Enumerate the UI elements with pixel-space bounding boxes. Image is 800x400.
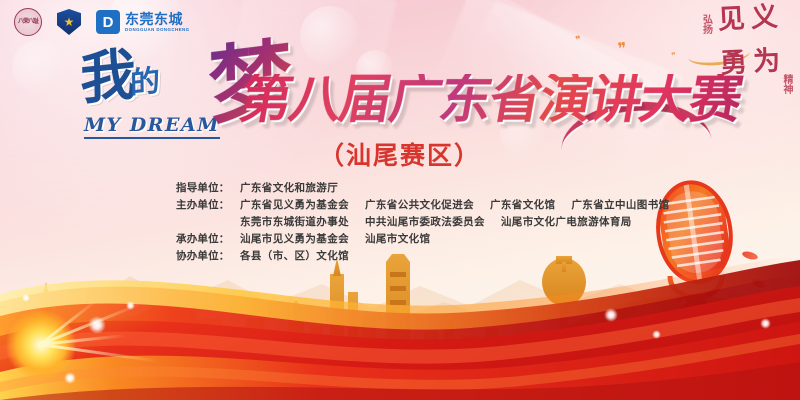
police-emblem-logo: ★ [56, 8, 82, 36]
credit-item: 广东省文化馆 [490, 197, 555, 214]
credit-item: 广东省见义勇为基金会 [240, 197, 349, 214]
credit-label: 承办单位： [176, 231, 240, 248]
bird-1-icon: ❞ [575, 35, 583, 46]
dongguan-mark-icon: D [96, 10, 120, 34]
dongguan-dongcheng-logo: D 东莞东城 DONGGUAN DONGCHENG [96, 10, 189, 34]
credit-row: 主办单位：广东省见义勇为基金会广东省公共文化促进会广东省文化馆广东省立中山图书馆 [176, 197, 696, 214]
credit-item: 各县（市、区）文化馆 [240, 248, 349, 265]
credit-row: 承办单位：汕尾市见义勇为基金会汕尾市文化馆 [176, 231, 696, 248]
dongguan-name-cn: 东莞东城 [125, 12, 189, 26]
credit-label: 指导单位： [176, 180, 240, 197]
credit-label: 协办单位： [176, 248, 240, 265]
police-star-icon: ★ [64, 16, 75, 28]
credit-item: 东莞市东城街道办事处 [240, 214, 349, 231]
credit-item: 广东省立中山图书馆 [571, 197, 669, 214]
event-poster: 八荣八耻 ★ D 东莞东城 DONGGUAN DONGCHENG ❞ ❞ ❞ 弘… [0, 0, 800, 400]
sparkle-3 [126, 301, 135, 310]
credit-items: 各县（市、区）文化馆 [240, 248, 349, 265]
sparkle-1 [88, 316, 106, 334]
credit-item: 中共汕尾市委政法委员会 [365, 214, 485, 231]
credit-row: 协办单位：各县（市、区）文化馆 [176, 248, 696, 265]
sparkle-2 [64, 372, 76, 384]
credit-item: 汕尾市见义勇为基金会 [240, 231, 349, 248]
credit-item: 广东省公共文化促进会 [365, 197, 474, 214]
dongguan-name-en: DONGGUAN DONGCHENG [125, 28, 189, 32]
slogan-char-1: 见 [714, 6, 749, 52]
sponsor-logo-row: 八荣八耻 ★ D 东莞东城 DONGGUAN DONGCHENG [14, 8, 189, 36]
credit-items: 汕尾市见义勇为基金会汕尾市文化馆 [240, 231, 430, 248]
credit-item: 汕尾市文化馆 [365, 231, 430, 248]
credit-label: 主办单位： [176, 197, 240, 214]
sparkle-4 [22, 294, 30, 302]
credit-item: 汕尾市文化广电旅游体育局 [501, 214, 632, 231]
organizer-credits: 指导单位：广东省文化和旅游厅主办单位：广东省见义勇为基金会广东省公共文化促进会广… [176, 180, 696, 265]
my-dream-char-wo: 我 [80, 42, 131, 113]
credit-items: 广东省文化和旅游厅 [240, 180, 338, 197]
credit-item: 广东省文化和旅游厅 [240, 180, 338, 197]
police-shield-icon: ★ [57, 9, 81, 35]
seal-logo: 八荣八耻 [14, 8, 42, 36]
dongguan-wordmark: 东莞东城 DONGGUAN DONGCHENG [125, 12, 189, 32]
credit-items: 广东省见义勇为基金会广东省公共文化促进会广东省文化馆广东省立中山图书馆 [240, 197, 670, 214]
light-burst [0, 256, 156, 400]
credit-row: 主办单位：东莞市东城街道办事处中共汕尾市委政法委员会汕尾市文化广电旅游体育局 [176, 214, 696, 231]
credit-items: 东莞市东城街道办事处中共汕尾市委政法委员会汕尾市文化广电旅游体育局 [240, 214, 632, 231]
slogan-prefix: 弘扬 [700, 14, 711, 34]
credit-row: 指导单位：广东省文化和旅游厅 [176, 180, 696, 197]
main-title: 第八届广东省演讲大赛 [235, 74, 744, 126]
my-dream-char-de: 的 [130, 64, 154, 102]
seal-logo-text: 八荣八耻 [18, 19, 38, 25]
subtitle-division: （汕尾赛区） [0, 136, 800, 172]
slogan-char-2: 义 [747, 4, 782, 50]
my-dream-cn: 我的 [80, 44, 155, 108]
